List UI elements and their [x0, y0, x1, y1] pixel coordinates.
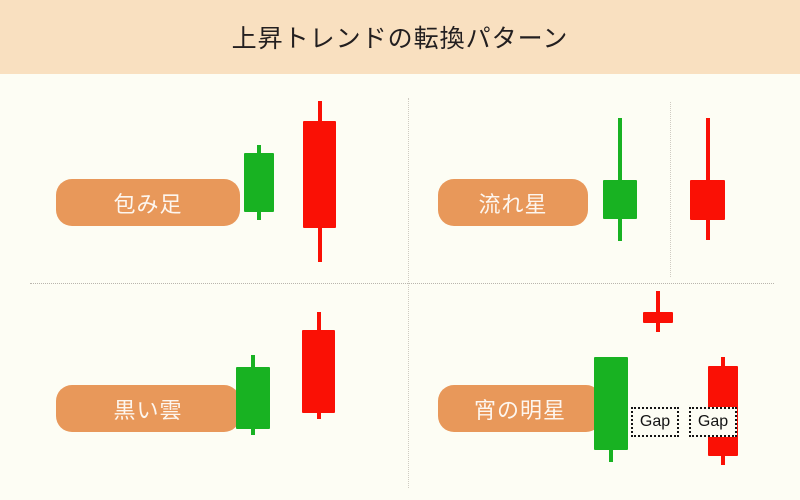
label-pill-evening-star: 宵の明星	[438, 385, 602, 432]
candle-body	[303, 121, 336, 228]
gap-label-right: Gap	[689, 407, 737, 437]
candle-body	[643, 312, 673, 323]
label-pill-engulfing: 包み足	[56, 179, 240, 226]
diagram-canvas-inner: 包み足 流れ星 黒い雲 宵の明星 Gap Gap	[8, 80, 792, 494]
candle-body	[603, 180, 637, 219]
candle-body	[594, 357, 628, 450]
divider-horizontal	[30, 283, 774, 284]
candle-body	[302, 330, 335, 413]
divider-vertical-shooting-star	[670, 102, 671, 277]
candle-wick	[706, 118, 710, 240]
gap-label-left: Gap	[631, 407, 679, 437]
candle-body	[236, 367, 270, 429]
diagram-canvas: 包み足 流れ星 黒い雲 宵の明星 Gap Gap	[0, 74, 800, 500]
candle-body	[244, 153, 274, 212]
pattern-diagram: 上昇トレンドの転換パターン 包み足 流れ星 黒い雲 宵の明星 Gap Gap	[0, 0, 800, 500]
header-bar: 上昇トレンドの転換パターン	[0, 0, 800, 74]
label-pill-dark-cloud-cover: 黒い雲	[56, 385, 240, 432]
page-title: 上昇トレンドの転換パターン	[232, 19, 569, 55]
candle-body	[690, 180, 725, 220]
divider-vertical-main	[408, 98, 409, 488]
label-pill-shooting-star: 流れ星	[438, 179, 588, 226]
